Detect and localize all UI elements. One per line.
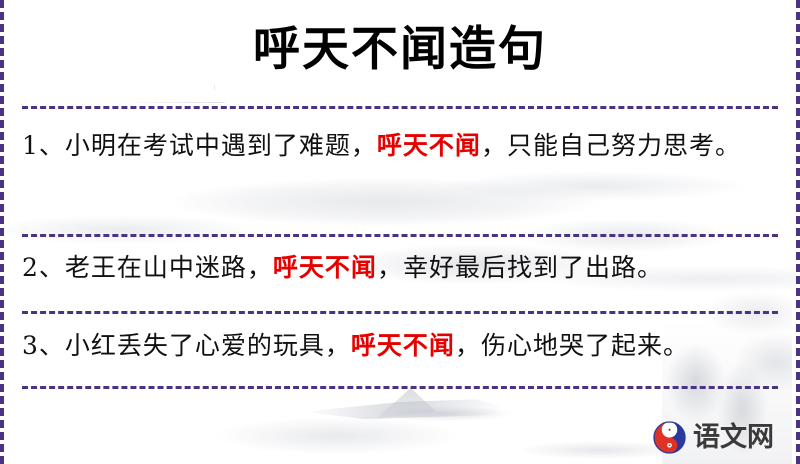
sentence-text-before-2: 老王在山中迷路， [65, 253, 273, 282]
sentence-highlight-3: 呼天不闻 [351, 331, 455, 360]
yin-yang-circle-icon [653, 421, 686, 454]
sentence-item-3: 3、小红丢失了心爱的玩具，呼天不闻，伤心地哭了起来。 [22, 324, 776, 368]
page-root: 呼天不闻造句 1、小明在考试中遇到了难题，呼天不闻，只能自己努力思考。 2、老王… [0, 0, 800, 464]
sentence-highlight-2: 呼天不闻 [273, 253, 377, 282]
sentence-item-1: 1、小明在考试中遇到了难题，呼天不闻，只能自己努力思考。 [22, 124, 776, 168]
sentence-text-after-1: ，只能自己努力思考。 [481, 131, 741, 160]
content-area: 呼天不闻造句 1、小明在考试中遇到了难题，呼天不闻，只能自己努力思考。 2、老王… [4, 0, 796, 464]
sentence-text-before-3: 小红丢失了心爱的玩具， [65, 331, 351, 360]
divider-line-2 [22, 234, 778, 237]
sentence-highlight-1: 呼天不闻 [377, 131, 481, 160]
sentence-index-3: 3、 [22, 331, 65, 360]
site-logo-text: 语文网 [693, 424, 774, 451]
page-title: 呼天不闻造句 [4, 22, 796, 78]
site-logo[interactable]: 语文网 [653, 421, 774, 454]
divider-line-3 [22, 311, 778, 314]
sentence-text-after-3: ，伤心地哭了起来。 [455, 331, 689, 360]
divider-line-1 [22, 106, 778, 109]
sentence-text-after-2: ，幸好最后找到了出路。 [377, 253, 663, 282]
sentence-index-1: 1、 [22, 131, 65, 160]
sentence-index-2: 2、 [22, 253, 65, 282]
sentence-text-before-1: 小明在考试中遇到了难题， [65, 131, 377, 160]
sentence-item-2: 2、老王在山中迷路，呼天不闻，幸好最后找到了出路。 [22, 246, 776, 290]
divider-line-4 [22, 386, 778, 389]
